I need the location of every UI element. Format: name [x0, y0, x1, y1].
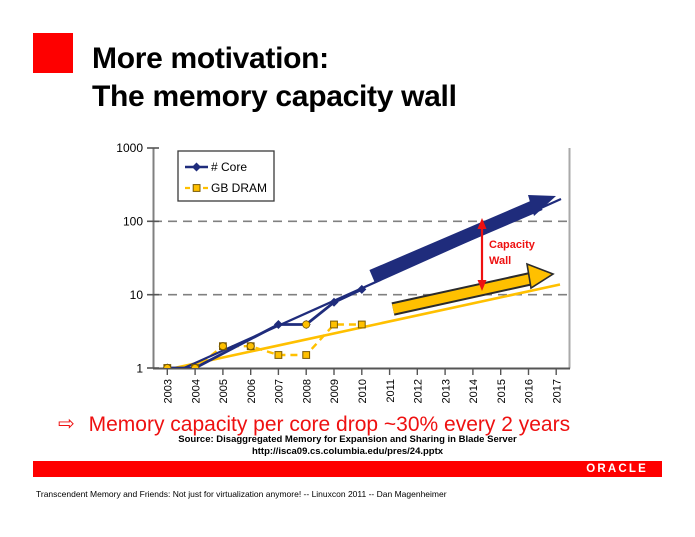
- x-tick-2013: 2013: [440, 379, 452, 403]
- legend-label-dram: GB DRAM: [211, 181, 267, 195]
- x-tick-2006: 2006: [246, 379, 258, 403]
- chart-x-tick-labels: 2003 2004 2005 2006 2007 2008 2009 2010 …: [163, 379, 564, 403]
- memory-capacity-chart: 1000 100 10 1: [0, 138, 695, 406]
- x-tick-2017: 2017: [551, 379, 563, 403]
- page-title-line-1: More motivation:: [92, 40, 652, 78]
- capacity-wall-arrow: [478, 218, 487, 291]
- oracle-wordmark: ORACLE: [586, 463, 648, 475]
- chart-svg: 1000 100 10 1: [0, 138, 695, 406]
- page-title-line-2: The memory capacity wall: [92, 78, 652, 116]
- x-tick-2011: 2011: [385, 379, 397, 403]
- core-data-markers: [163, 285, 366, 373]
- source-citation: Source: Disaggregated Memory for Expansi…: [0, 434, 695, 458]
- capacity-wall-line-2: Wall: [489, 255, 511, 267]
- oracle-logo: ORACLE: [586, 463, 648, 475]
- x-tick-2008: 2008: [301, 379, 313, 403]
- chart-legend: # Core GB DRAM: [178, 151, 274, 201]
- x-tick-2007: 2007: [274, 379, 286, 403]
- y-tick-100: 100: [123, 215, 143, 229]
- x-tick-2004: 2004: [190, 379, 202, 403]
- x-tick-2012: 2012: [413, 379, 425, 403]
- arrow-right-icon: ⇨: [58, 411, 75, 436]
- page-title: More motivation: The memory capacity wal…: [92, 40, 652, 116]
- x-tick-2003: 2003: [163, 379, 175, 403]
- x-tick-2005: 2005: [218, 379, 230, 403]
- x-tick-2015: 2015: [496, 379, 508, 403]
- x-tick-2014: 2014: [468, 379, 480, 403]
- capacity-wall-label: Capacity Wall: [489, 239, 536, 267]
- x-tick-2010: 2010: [357, 379, 369, 403]
- slide-canvas: More motivation: The memory capacity wal…: [0, 0, 695, 537]
- y-tick-10: 10: [130, 288, 144, 302]
- title-bullet-square: [33, 33, 73, 73]
- y-tick-1: 1: [136, 362, 143, 376]
- source-url[interactable]: http://isca09.cs.columbia.edu/pres/24.pp…: [0, 446, 695, 458]
- x-tick-2009: 2009: [329, 379, 341, 403]
- chart-y-tick-labels: 1000 100 10 1: [116, 141, 143, 376]
- oracle-brand-bar: ORACLE: [33, 461, 662, 477]
- capacity-wall-line-1: Capacity: [489, 239, 536, 251]
- source-line-1: Source: Disaggregated Memory for Expansi…: [0, 434, 695, 446]
- legend-dram-marker: [193, 185, 200, 192]
- y-tick-1000: 1000: [116, 141, 143, 155]
- footer-note: Transcendent Memory and Friends: Not jus…: [36, 489, 656, 499]
- legend-label-core: # Core: [211, 160, 247, 174]
- x-tick-2016: 2016: [524, 379, 536, 403]
